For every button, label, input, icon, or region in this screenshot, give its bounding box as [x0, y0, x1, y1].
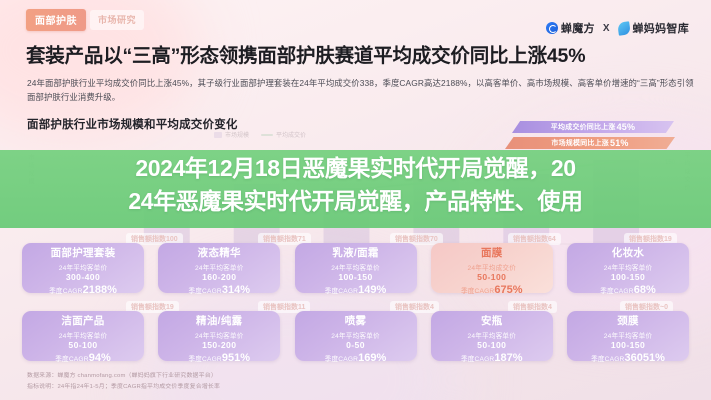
chart-legend: 市场规模 平均成交价 [214, 130, 306, 139]
product-card-name: 颈膜 [567, 316, 689, 328]
product-card-name: 精油/纯露 [158, 316, 280, 328]
legend-line-label: 平均成交价 [276, 130, 306, 139]
product-card-sub: 24年平均客单价 [567, 262, 689, 272]
page-subtitle: 24年面部护肤行业平均成交价同比上涨45%，其子级行业面部护理套装在24年平均成… [27, 77, 695, 104]
ribbon-avg-price-value: 45% [617, 122, 636, 132]
overlay-headline-line1: 2024年12月18日恶魔果实时代开局觉醒，20 [135, 155, 575, 181]
product-card-cagr-label: 季度CAGR [591, 356, 624, 363]
product-card-cagr-value: 675% [494, 284, 522, 296]
brand-chanmofang-label: 蝉魔方 [561, 20, 595, 36]
product-card-name: 安瓶 [431, 316, 553, 328]
product-card-cagr-value: 94% [89, 352, 111, 364]
category-tag: 面部护肤 [26, 9, 86, 31]
ribbon-market-size-value: 51% [610, 138, 629, 148]
product-card-cagr: 季度CAGR2188% [22, 284, 144, 296]
legend-item-line: 平均成交价 [261, 130, 306, 139]
chanmofang-circle-logo-icon [546, 22, 558, 34]
product-card-range: 100-150 [567, 272, 689, 282]
product-card-name: 喷雾 [295, 316, 417, 328]
product-card-cagr-value: 169% [358, 352, 386, 364]
legend-bars-label: 市场规模 [225, 130, 249, 139]
product-card-cagr-label: 季度CAGR [325, 288, 358, 295]
product-card-cagr-value: 149% [358, 284, 386, 296]
product-card[interactable]: 液态精华 24年平均客单价 160-200 季度CAGR314% [158, 243, 280, 293]
brand-chanmofang: 蝉魔方 [546, 20, 595, 36]
product-card[interactable]: 安瓶 24年平均客单价 50-100 季度CAGR187% [431, 311, 553, 361]
product-card-cagr-label: 季度CAGR [600, 288, 633, 295]
product-card-cagr: 季度CAGR94% [22, 352, 144, 364]
product-card-name: 乳液/面霜 [295, 248, 417, 260]
legend-line-swatch-icon [261, 134, 273, 136]
product-card-sub: 24年平均客单价 [567, 330, 689, 340]
product-card-name: 液态精华 [158, 248, 280, 260]
product-cards-row-bottom: 洁面产品 24年平均客单价 50-100 季度CAGR94% 精油/纯露 24年… [22, 311, 689, 361]
overlay-headline-line2: 24年恶魔果实时代开局觉醒，产品特性、使用 [0, 185, 711, 218]
product-card-cagr-label: 季度CAGR [461, 288, 494, 295]
product-card-cagr: 季度CAGR951% [158, 352, 280, 364]
product-card-range: 50-100 [22, 340, 144, 350]
product-card-cagr-value: 36051% [625, 352, 665, 364]
infographic-page: 面部护肤 市场研究 蝉魔方 X 蝉妈妈智库 套装产品以“三高”形态领携面部护肤赛… [0, 0, 711, 400]
product-card-name: 洁面产品 [22, 316, 144, 328]
product-card[interactable]: 喷雾 24年平均客单价 0-50 季度CAGR169% [295, 311, 417, 361]
product-card[interactable]: 精油/纯露 24年平均客单价 150-200 季度CAGR951% [158, 311, 280, 361]
product-card[interactable]: 乳液/面霜 24年平均客单价 100-150 季度CAGR149% [295, 243, 417, 293]
product-card[interactable]: 面部护理套装 24年平均客单价 300-400 季度CAGR2188% [22, 243, 144, 293]
product-card-cagr-value: 314% [222, 284, 250, 296]
ribbon-market-size-label: 市场规模同比上涨 [551, 138, 609, 148]
footer-metric-note: 指标说明：24年指24年1-5月；季度CAGR指平均成交价季度复合增长率 [27, 382, 220, 393]
product-card-range: 100-150 [295, 272, 417, 282]
product-card-cagr-value: 951% [222, 352, 250, 364]
legend-bar-swatch-icon [214, 132, 222, 138]
product-card-sub: 24年平均客单价 [295, 330, 417, 340]
ribbon-market-size: 市场规模同比上涨51% [505, 137, 675, 149]
product-card-cagr: 季度CAGR314% [158, 284, 280, 296]
brand-separator: X [603, 23, 610, 34]
product-card-sub: 24年平均成交价 [431, 262, 553, 272]
product-card-cagr-label: 季度CAGR [49, 288, 82, 295]
product-cards-row-top: 面部护理套装 24年平均客单价 300-400 季度CAGR2188% 液态精华… [22, 243, 689, 293]
product-card-cagr-label: 季度CAGR [325, 356, 358, 363]
product-card-cagr: 季度CAGR149% [295, 284, 417, 296]
ribbon-avg-price: 平均成交价同比上涨45% [512, 121, 674, 133]
legend-item-bars: 市场规模 [214, 130, 249, 139]
product-card[interactable]: 颈膜 24年平均客单价 100-150 季度CAGR36051% [567, 311, 689, 361]
product-card-range: 0-50 [295, 340, 417, 350]
product-card-name: 面膜 [431, 248, 553, 260]
product-card-range: 50-100 [431, 272, 553, 282]
product-card-cagr-value: 187% [494, 352, 522, 364]
footer-notes: 数据来源：蝉魔方 chanmofang.com（蝉妈妈旗下行业研究数据平台） 指… [27, 371, 220, 393]
product-card-cagr: 季度CAGR187% [431, 352, 553, 364]
product-card-cagr-label: 季度CAGR [55, 356, 88, 363]
product-card[interactable]: 化妆水 24年平均客单价 100-150 季度CAGR68% [567, 243, 689, 293]
product-card-sub: 24年平均客单价 [22, 262, 144, 272]
product-card-sub: 24年平均客单价 [158, 330, 280, 340]
product-card-range: 300-400 [22, 272, 144, 282]
section-title: 面部护肤行业市场规模和平均成交价变化 [27, 116, 238, 132]
product-card-range: 160-200 [158, 272, 280, 282]
product-card-sub: 24年平均客单价 [158, 262, 280, 272]
ribbon-avg-price-label: 平均成交价同比上涨 [551, 122, 616, 132]
page-title: 套装产品以“三高”形态领携面部护肤赛道平均成交价同比上涨45% [26, 46, 691, 67]
product-card-sub: 24年平均客单价 [22, 330, 144, 340]
product-card[interactable]: 面膜 24年平均成交价 50-100 季度CAGR675% [431, 243, 553, 293]
product-card-cagr: 季度CAGR68% [567, 284, 689, 296]
product-card[interactable]: 洁面产品 24年平均客单价 50-100 季度CAGR94% [22, 311, 144, 361]
product-card-cagr-label: 季度CAGR [188, 288, 221, 295]
header-tags: 面部护肤 市场研究 [26, 9, 144, 31]
product-card-sub: 24年平均客单价 [295, 262, 417, 272]
brand-chanmama: 蝉妈妈智库 [618, 20, 690, 36]
brand-chanmama-label: 蝉妈妈智库 [633, 20, 690, 36]
product-card-range: 100-150 [567, 340, 689, 350]
product-card-name: 化妆水 [567, 248, 689, 260]
product-card-cagr-value: 68% [634, 284, 656, 296]
footer-source: 数据来源：蝉魔方 chanmofang.com（蝉妈妈旗下行业研究数据平台） [27, 371, 220, 382]
product-card-cagr: 季度CAGR36051% [567, 352, 689, 364]
product-card-range: 150-200 [158, 340, 280, 350]
brand-lockup: 蝉魔方 X 蝉妈妈智库 [546, 20, 689, 36]
product-card-cagr-label: 季度CAGR [188, 356, 221, 363]
product-card-cagr: 季度CAGR675% [431, 284, 553, 296]
product-card-cagr: 季度CAGR169% [295, 352, 417, 364]
overlay-headline: 2024年12月18日恶魔果实时代开局觉醒，20 24年恶魔果实时代开局觉醒，产… [0, 152, 711, 217]
product-card-range: 50-100 [431, 340, 553, 350]
product-card-cagr-value: 2188% [83, 284, 117, 296]
product-card-cagr-label: 季度CAGR [461, 356, 494, 363]
research-tag: 市场研究 [90, 10, 144, 30]
chanmama-leaf-logo-icon [617, 21, 631, 36]
product-card-sub: 24年平均客单价 [431, 330, 553, 340]
product-card-name: 面部护理套装 [22, 248, 144, 260]
